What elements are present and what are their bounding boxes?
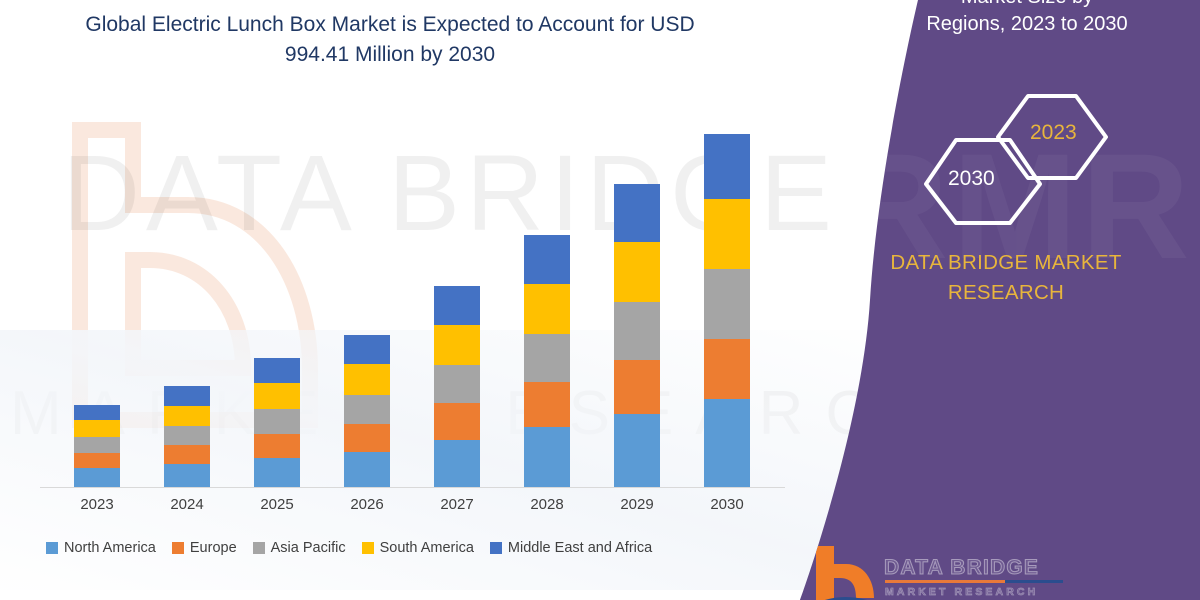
dbmr-logo: DATA BRIDGE MARKET RESEARCH bbox=[812, 544, 1062, 600]
stacked-bar[interactable] bbox=[74, 405, 120, 487]
hexagon-label-2030: 2030 bbox=[948, 167, 995, 191]
brand-name-line2: RESEARCH bbox=[856, 278, 1156, 308]
bar-segment-asia-pacific bbox=[434, 365, 480, 403]
stacked-bar[interactable] bbox=[434, 286, 480, 487]
brand-name: DATA BRIDGE MARKET RESEARCH bbox=[856, 248, 1156, 308]
bar-segment-south-america bbox=[74, 420, 120, 437]
bar-segment-south-america bbox=[614, 242, 660, 302]
bar-segment-europe bbox=[164, 445, 210, 464]
bar-segment-north-america bbox=[74, 468, 120, 487]
bar-segment-europe bbox=[524, 382, 570, 427]
bar-segment-south-america bbox=[344, 364, 390, 395]
legend-label: Middle East and Africa bbox=[508, 540, 652, 556]
bar-segment-north-america bbox=[344, 452, 390, 487]
chart-panel: DATA BRIDGE MARKET RESEARCH Global Elect… bbox=[0, 0, 880, 600]
bar-segment-middle-east-and-africa bbox=[704, 134, 750, 199]
bar-group bbox=[142, 386, 232, 487]
legend-label: North America bbox=[64, 540, 156, 556]
bar-segment-europe bbox=[344, 424, 390, 452]
bar-segment-middle-east-and-africa bbox=[614, 184, 660, 242]
bar-segment-asia-pacific bbox=[704, 269, 750, 339]
bar-segment-europe bbox=[434, 403, 480, 440]
chart-title: Global Electric Lunch Box Market is Expe… bbox=[60, 10, 720, 70]
bar-segment-europe bbox=[74, 453, 120, 468]
bar-segment-middle-east-and-africa bbox=[344, 335, 390, 364]
bar-segment-middle-east-and-africa bbox=[74, 405, 120, 420]
bridge-arch-icon bbox=[812, 544, 882, 600]
bar-segment-middle-east-and-africa bbox=[434, 286, 480, 325]
legend-swatch-icon bbox=[253, 542, 265, 554]
bar-segment-north-america bbox=[254, 458, 300, 487]
x-axis-label: 2025 bbox=[232, 496, 322, 513]
x-axis-label: 2026 bbox=[322, 496, 412, 513]
bar-segment-asia-pacific bbox=[254, 409, 300, 434]
bar-segment-middle-east-and-africa bbox=[254, 358, 300, 383]
bar-segment-south-america bbox=[524, 284, 570, 334]
bar-segment-asia-pacific bbox=[524, 334, 570, 382]
bar-segment-europe bbox=[614, 360, 660, 414]
stacked-bar[interactable] bbox=[704, 134, 750, 487]
bar-segment-asia-pacific bbox=[344, 395, 390, 424]
stacked-bar[interactable] bbox=[164, 386, 210, 487]
x-axis-label: 2027 bbox=[412, 496, 502, 513]
bar-segment-north-america bbox=[434, 440, 480, 487]
legend-label: South America bbox=[380, 540, 474, 556]
brand-heading-line2: Regions, 2023 to 2030 bbox=[862, 11, 1192, 38]
stacked-bar[interactable] bbox=[344, 335, 390, 487]
hexagon-badges: 2023 2030 bbox=[910, 92, 1120, 227]
bar-group bbox=[412, 286, 502, 487]
bar-group bbox=[502, 235, 592, 487]
x-axis-label: 2023 bbox=[52, 496, 142, 513]
legend-item[interactable]: Europe bbox=[172, 540, 237, 556]
legend-item[interactable]: South America bbox=[362, 540, 474, 556]
hexagon-outlines-icon bbox=[910, 92, 1120, 227]
bar-segment-north-america bbox=[524, 427, 570, 487]
bar-segment-asia-pacific bbox=[614, 302, 660, 360]
bar-segment-north-america bbox=[164, 464, 210, 487]
x-axis-label: 2029 bbox=[592, 496, 682, 513]
x-axis-labels: 20232024202520262027202820292030 bbox=[40, 496, 785, 522]
bar-segment-asia-pacific bbox=[74, 437, 120, 453]
x-axis-label: 2028 bbox=[502, 496, 592, 513]
dbmr-rule-orange bbox=[885, 580, 1005, 583]
dbmr-logo-sub: MARKET RESEARCH bbox=[885, 586, 1038, 598]
bar-segment-north-america bbox=[614, 414, 660, 487]
bar-segment-asia-pacific bbox=[164, 426, 210, 445]
bar-segment-south-america bbox=[164, 406, 210, 426]
bar-group bbox=[592, 184, 682, 487]
bar-segment-middle-east-and-africa bbox=[524, 235, 570, 284]
legend-swatch-icon bbox=[172, 542, 184, 554]
dbmr-logo-text: DATA BRIDGE bbox=[884, 556, 1039, 580]
legend-swatch-icon bbox=[46, 542, 58, 554]
bar-group bbox=[682, 134, 772, 487]
legend-swatch-icon bbox=[362, 542, 374, 554]
chart-legend: North AmericaEuropeAsia PacificSouth Ame… bbox=[46, 540, 786, 556]
brand-name-line1: DATA BRIDGE MARKET bbox=[856, 248, 1156, 278]
bar-segment-europe bbox=[254, 434, 300, 458]
bar-segment-south-america bbox=[434, 325, 480, 365]
hexagon-label-2023: 2023 bbox=[1030, 121, 1077, 145]
bar-segment-south-america bbox=[254, 383, 300, 409]
bar-segment-south-america bbox=[704, 199, 750, 269]
dbmr-rule-blue bbox=[1005, 580, 1063, 583]
legend-label: Asia Pacific bbox=[271, 540, 346, 556]
stacked-bar[interactable] bbox=[524, 235, 570, 487]
x-axis-label: 2024 bbox=[142, 496, 232, 513]
bar-segment-middle-east-and-africa bbox=[164, 386, 210, 406]
legend-item[interactable]: Asia Pacific bbox=[253, 540, 346, 556]
brand-heading-line1: Market Size by bbox=[862, 0, 1192, 11]
brand-heading: Market Size by Regions, 2023 to 2030 bbox=[862, 0, 1192, 38]
x-axis-label: 2030 bbox=[682, 496, 772, 513]
bar-group bbox=[322, 335, 412, 487]
legend-item[interactable]: Middle East and Africa bbox=[490, 540, 652, 556]
plot-area bbox=[40, 100, 785, 488]
legend-label: Europe bbox=[190, 540, 237, 556]
stacked-bar[interactable] bbox=[254, 358, 300, 487]
legend-swatch-icon bbox=[490, 542, 502, 554]
bar-segment-north-america bbox=[704, 399, 750, 487]
x-axis-line bbox=[40, 487, 785, 488]
bar-group bbox=[232, 358, 322, 487]
legend-item[interactable]: North America bbox=[46, 540, 156, 556]
stacked-bar[interactable] bbox=[614, 184, 660, 487]
bar-group bbox=[52, 405, 142, 487]
bar-segment-europe bbox=[704, 339, 750, 399]
